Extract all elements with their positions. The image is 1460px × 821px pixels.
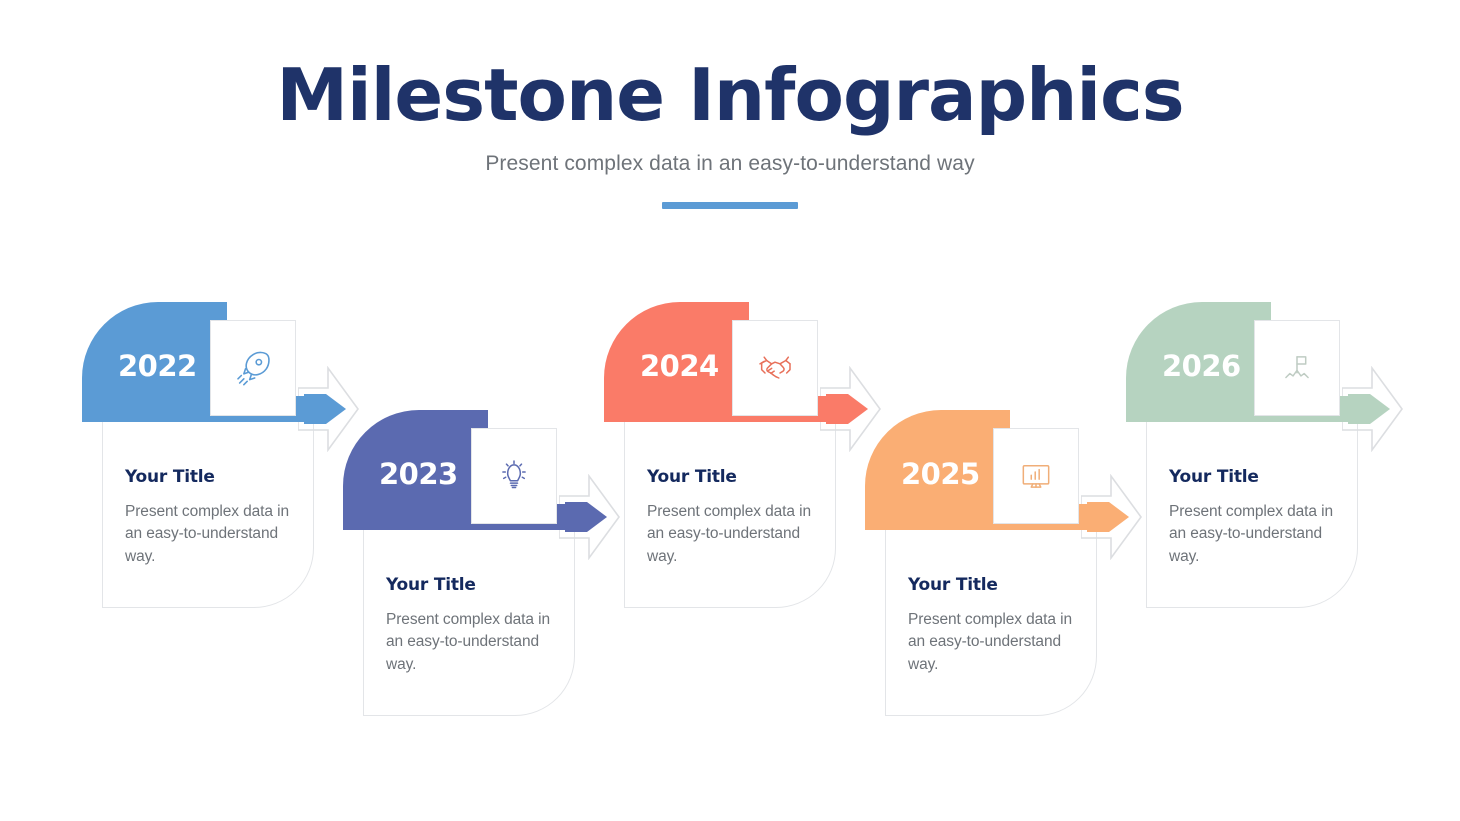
milestone-title-2024: Your Title — [647, 467, 811, 487]
lightbulb-icon — [495, 457, 533, 495]
milestone-text-2022: Present complex data in an easy-to-under… — [125, 501, 289, 568]
milestone-year-2025: 2025 — [901, 457, 980, 491]
arrow-head-2024 — [826, 374, 868, 444]
milestone-text-2023: Present complex data in an easy-to-under… — [386, 609, 550, 676]
arrow-head-2025 — [1087, 482, 1129, 552]
milestone-year-2022: 2022 — [118, 349, 197, 383]
milestone-title-2025: Your Title — [908, 575, 1072, 595]
rocket-icon — [233, 348, 273, 388]
milestone-icon-box-2024[interactable] — [732, 320, 818, 416]
milestone-body-2023: Your Title Present complex data in an ea… — [363, 526, 575, 716]
milestone-timeline: Your Title Present complex data in an ea… — [0, 0, 1460, 821]
handshake-icon — [755, 348, 795, 388]
arrow-head-2023 — [565, 482, 607, 552]
milestone-body-2026: Your Title Present complex data in an ea… — [1146, 418, 1358, 608]
milestone-title-2022: Your Title — [125, 467, 289, 487]
arrow-head-2026 — [1348, 374, 1390, 444]
milestone-title-2023: Your Title — [386, 575, 550, 595]
mountain-flag-icon — [1278, 349, 1316, 387]
milestone-year-2026: 2026 — [1162, 349, 1241, 383]
milestone-icon-box-2022[interactable] — [210, 320, 296, 416]
monitor-chart-icon — [1017, 457, 1055, 495]
milestone-title-2026: Your Title — [1169, 467, 1333, 487]
milestone-body-2025: Your Title Present complex data in an ea… — [885, 526, 1097, 716]
milestone-year-2023: 2023 — [379, 457, 458, 491]
milestone-text-2025: Present complex data in an easy-to-under… — [908, 609, 1072, 676]
milestone-year-2024: 2024 — [640, 349, 719, 383]
milestone-icon-box-2025[interactable] — [993, 428, 1079, 524]
arrow-head-2022 — [304, 374, 346, 444]
milestone-text-2026: Present complex data in an easy-to-under… — [1169, 501, 1333, 568]
milestone-text-2024: Present complex data in an easy-to-under… — [647, 501, 811, 568]
milestone-body-2024: Your Title Present complex data in an ea… — [624, 418, 836, 608]
milestone-body-2022: Your Title Present complex data in an ea… — [102, 418, 314, 608]
milestone-icon-box-2026[interactable] — [1254, 320, 1340, 416]
milestone-icon-box-2023[interactable] — [471, 428, 557, 524]
